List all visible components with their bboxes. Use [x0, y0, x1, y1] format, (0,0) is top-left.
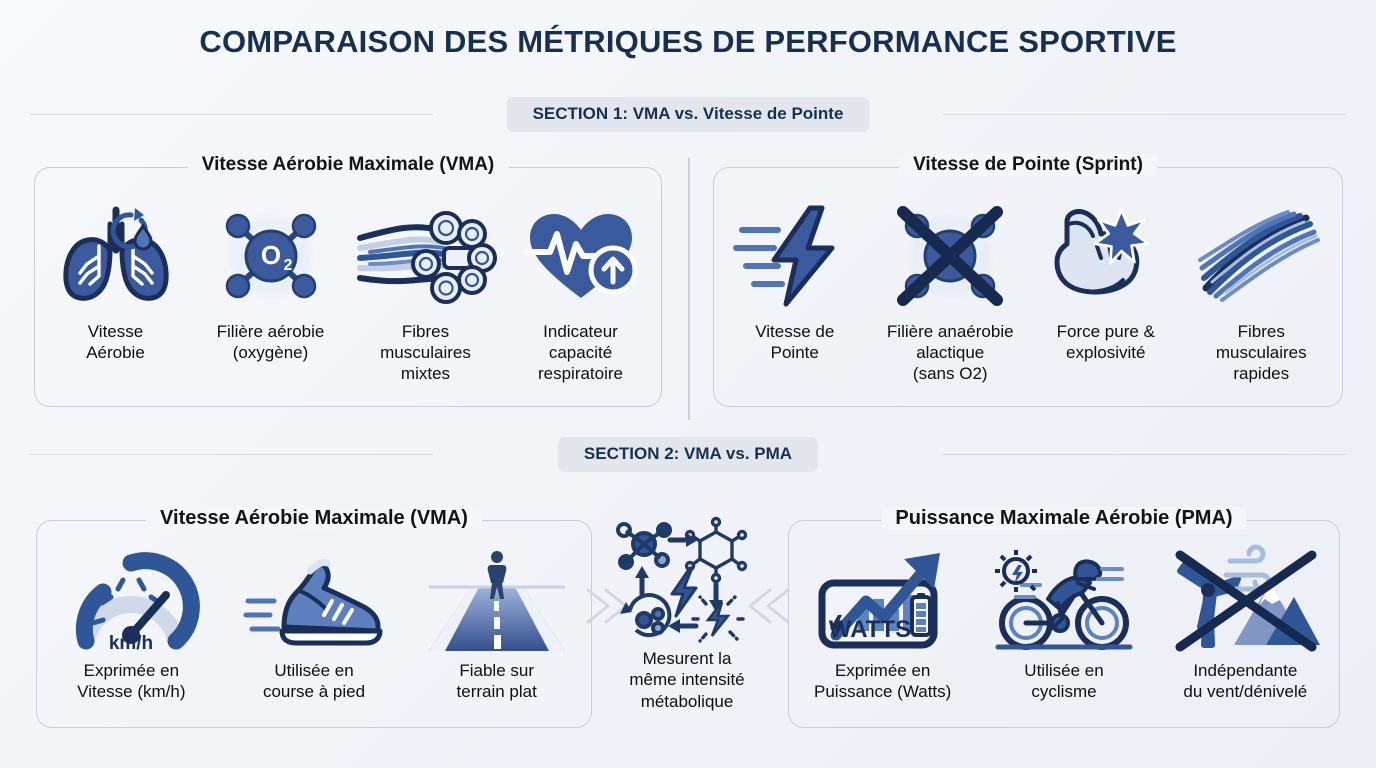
metabolic-cycle-icon: [612, 518, 762, 646]
panel-title-vma-speed: Vitesse Aérobie Maximale (VMA): [188, 154, 509, 176]
panel-title-vma-power: Vitesse Aérobie Maximale (VMA): [146, 507, 482, 530]
item-label: Utilisée en course à pied: [263, 660, 365, 702]
section-rule-right: [943, 454, 1346, 455]
item-label: Exprimée en Vitesse (km/h): [77, 660, 185, 702]
section-2-title: SECTION 2: VMA vs. PMA: [558, 437, 818, 472]
panel-items: Vitesse de Pointe: [713, 167, 1343, 407]
oxygen-molecule-crossed-icon: [889, 197, 1011, 315]
item-label: Fiable sur terrain plat: [457, 660, 537, 702]
lungs-icon: [55, 197, 177, 315]
item-label: Vitesse Aérobie: [86, 321, 145, 363]
item-label: Fibres musculaires rapides: [1216, 321, 1307, 384]
watts-chart-icon: WATTS: [808, 544, 958, 654]
section-2-header: SECTION 2: VMA vs. PMA: [0, 437, 1376, 471]
item-exprimee-vitesse[interactable]: km/h Exprimée en Vitesse (km/h): [40, 544, 223, 702]
wind-mountain-crossed-icon: [1170, 544, 1320, 654]
item-label: Utilisée en cyclisme: [1024, 660, 1103, 702]
panel-pma-power: Puissance Maximale Aérobie (PMA): [788, 520, 1340, 728]
item-filiere-aerobie[interactable]: O 2 Filière aérobie (oxygène): [193, 197, 348, 363]
bridge-label: Mesurent la même intensité métabolique: [629, 648, 744, 712]
watts-text: WATTS: [829, 616, 911, 643]
heart-ecg-arrow-icon: [520, 197, 642, 315]
lightning-bolt-icon: [734, 197, 856, 315]
bridge-metabolic: Mesurent la même intensité métabolique: [612, 518, 762, 712]
section-1-title: SECTION 1: VMA vs. Vitesse de Pointe: [507, 97, 870, 132]
page-title: COMPARAISON DES MÉTRIQUES DE PERFORMANCE…: [0, 24, 1376, 60]
section-1-divider: [688, 158, 690, 420]
oxygen-molecule-icon: O 2: [210, 197, 332, 315]
panel-title-sprint-speed: Vitesse de Pointe (Sprint): [899, 154, 1157, 176]
item-filiere-anaerobie[interactable]: Filière anaérobie alactique (sans O2): [873, 197, 1029, 384]
item-label: Vitesse de Pointe: [755, 321, 834, 363]
item-label: Filière aérobie (oxygène): [217, 321, 325, 363]
item-terrain-plat[interactable]: Fiable sur terrain plat: [405, 544, 588, 702]
item-label: Indicateur capacité respiratoire: [538, 321, 623, 384]
panel-items: Vitesse Aérobie: [34, 167, 662, 407]
panel-items: km/h Exprimée en Vitesse (km/h): [36, 520, 592, 728]
speedometer-icon: km/h: [68, 544, 194, 654]
cyclist-icon: [994, 544, 1134, 654]
item-fibres-mixtes[interactable]: Fibres musculaires mixtes: [348, 197, 503, 384]
item-fibres-rapides[interactable]: Fibres musculaires rapides: [1184, 197, 1340, 384]
item-label: Exprimée en Puissance (Watts): [814, 660, 951, 702]
speedometer-unit-text: km/h: [109, 633, 153, 654]
panel-title-pma-power: Puissance Maximale Aérobie (PMA): [881, 507, 1246, 530]
svg-text:O: O: [260, 240, 280, 270]
item-independante-vent[interactable]: Indépendante du vent/dénivelé: [1155, 544, 1336, 702]
section-rule-left: [30, 114, 433, 115]
item-cyclisme[interactable]: Utilisée en cyclisme: [973, 544, 1154, 702]
item-label: Indépendante du vent/dénivelé: [1183, 660, 1307, 702]
svg-text:2: 2: [283, 257, 292, 274]
item-label: Filière anaérobie alactique (sans O2): [887, 321, 1014, 384]
arrow-right-to-center: [746, 588, 790, 624]
section-rule-left: [30, 454, 433, 455]
item-exprimee-puissance[interactable]: WATTS Exprimée en Puissance (Watts): [792, 544, 973, 702]
item-indicateur-respiratoire[interactable]: Indicateur capacité respiratoire: [503, 197, 658, 384]
road-runner-icon: [429, 544, 565, 654]
flexed-biceps-star-icon: [1045, 197, 1167, 315]
muscle-fibers-icon: [356, 197, 496, 315]
section-1-header: SECTION 1: VMA vs. Vitesse de Pointe: [0, 97, 1376, 131]
item-label: Fibres musculaires mixtes: [380, 321, 471, 384]
infographic-page: COMPARAISON DES MÉTRIQUES DE PERFORMANCE…: [0, 0, 1376, 768]
running-shoe-icon: [244, 544, 384, 654]
item-label: Force pure & explosivité: [1057, 321, 1155, 363]
item-force-explosivite[interactable]: Force pure & explosivité: [1028, 197, 1184, 363]
panel-sprint-speed: Vitesse de Pointe (Sprint) Vitesse de Po…: [713, 167, 1343, 407]
item-vitesse-de-pointe[interactable]: Vitesse de Pointe: [717, 197, 873, 363]
item-course-a-pied[interactable]: Utilisée en course à pied: [223, 544, 406, 702]
panel-items: WATTS Exprimée en Puissance (Watts): [788, 520, 1340, 728]
section-rule-right: [943, 114, 1346, 115]
item-vitesse-aerobie[interactable]: Vitesse Aérobie: [38, 197, 193, 363]
panel-vma-speed: Vitesse Aérobie Maximale (VMA): [34, 167, 662, 407]
fast-muscle-fibers-icon: [1196, 197, 1326, 315]
panel-vma-power: Vitesse Aérobie Maximale (VMA): [36, 520, 592, 728]
